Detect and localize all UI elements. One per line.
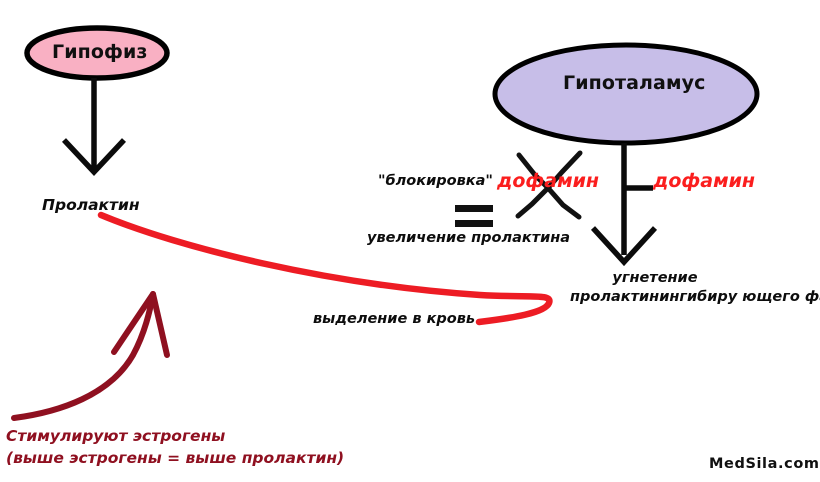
estrogen-note: Стимулируют эстрогены (выше эстрогены = … <box>6 425 344 469</box>
pituitary-label: Гипофиз <box>52 41 148 63</box>
increase-prolactin-label: увеличение пролактина <box>367 230 570 247</box>
equals-sign-icon <box>455 205 493 227</box>
suppression-label: угнетение пролактинингибиру ющего фактор… <box>570 269 740 307</box>
estrogen-line-1: Стимулируют эстрогены <box>6 425 344 447</box>
blockade-label: "блокировка" <box>378 173 493 190</box>
hypothalamus-label: Гипоталамус <box>563 72 705 94</box>
suppression-line-3: ющего фактора <box>742 289 820 305</box>
dopamine-right-label: дофамин <box>653 170 755 192</box>
dopamine-crossed-label: дофамин <box>497 170 599 192</box>
diagram-canvas: Гипофиз Гипоталамус Пролактин "блокировк… <box>0 0 820 482</box>
release-into-blood-label: выделение в кровь <box>313 311 475 328</box>
watermark: MedSila.com <box>709 456 820 473</box>
estrogen-line-2: (выше эстрогены = выше пролактин) <box>6 447 344 469</box>
curved-up-arrow-icon-estrogen <box>14 294 167 418</box>
prolactin-label: Пролактин <box>42 196 140 214</box>
suppression-line-1: угнетение <box>570 269 740 288</box>
arrow-down-icon-pituitary <box>64 78 124 172</box>
arrow-down-icon-hypothalamus <box>593 143 655 262</box>
suppression-line-2: пролактинингибиру <box>570 289 737 305</box>
